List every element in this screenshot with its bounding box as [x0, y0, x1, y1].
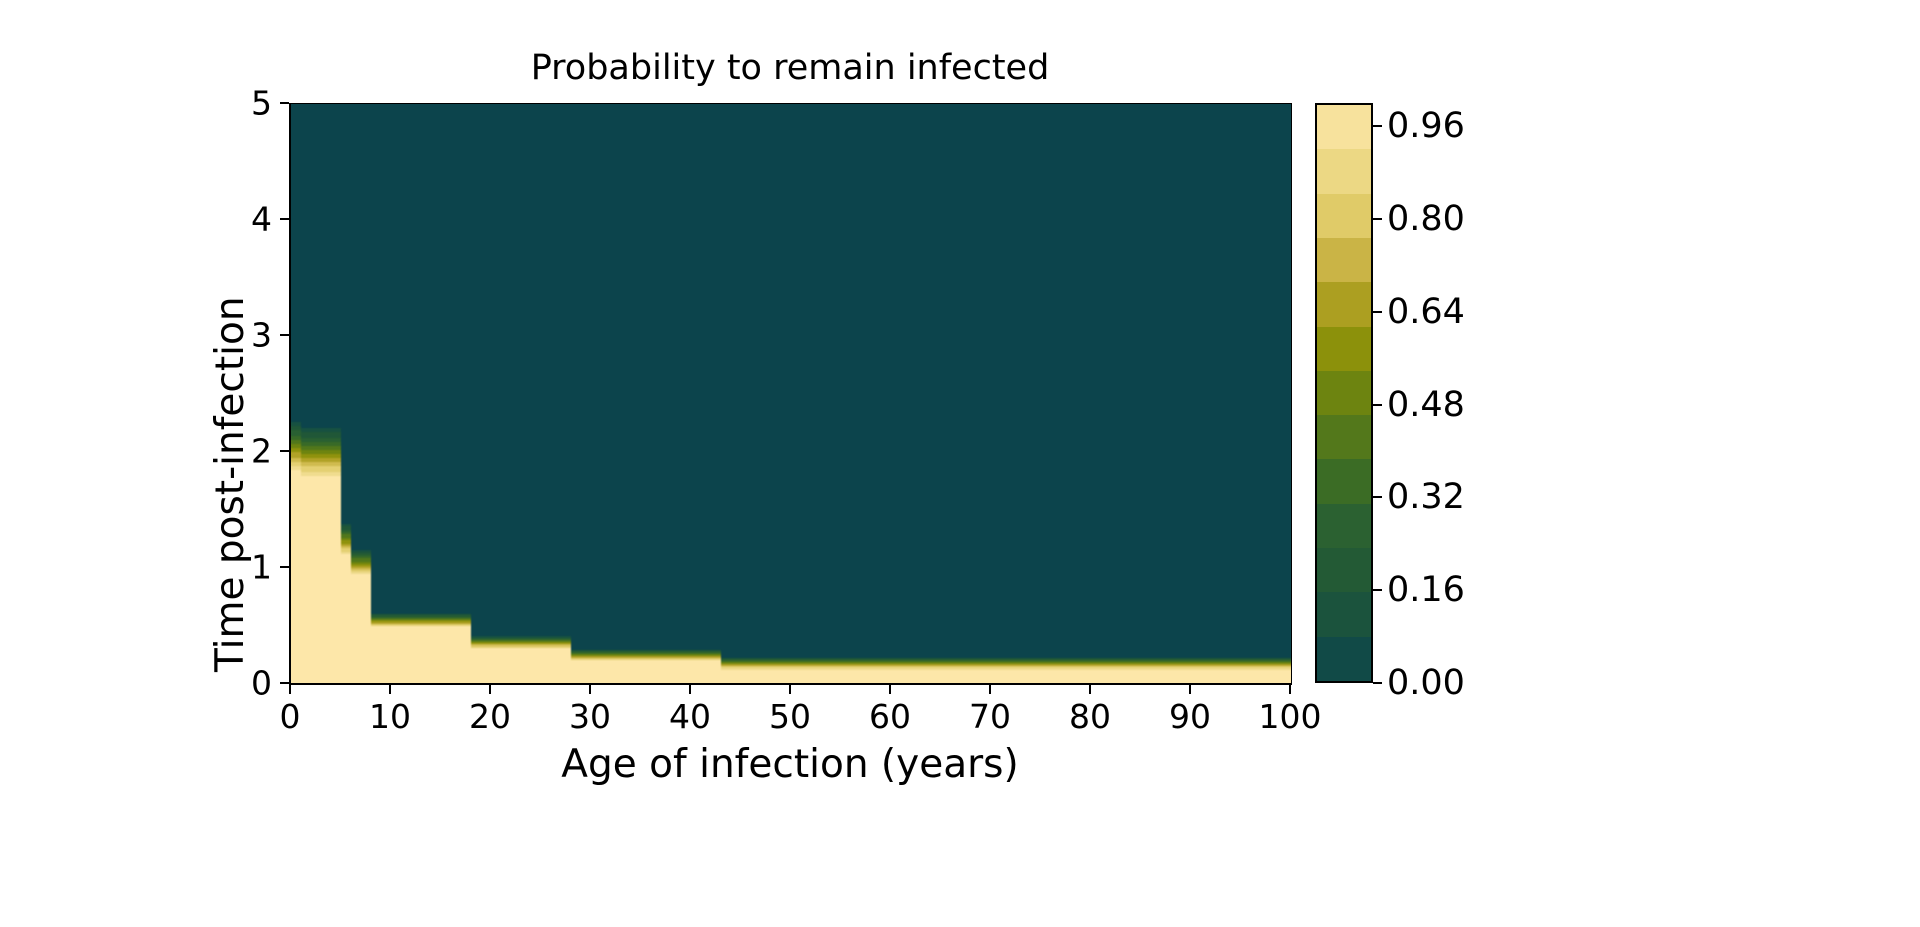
- x-tick-mark: [989, 685, 991, 694]
- x-tick-label: 40: [669, 697, 711, 736]
- y-tick-mark: [280, 334, 289, 336]
- colorbar-band: [1317, 459, 1371, 503]
- x-tick-mark: [689, 685, 691, 694]
- x-tick-label: 20: [469, 697, 511, 736]
- x-tick-mark: [1189, 685, 1191, 694]
- x-tick-mark: [289, 685, 291, 694]
- colorbar-tick-mark: [1373, 496, 1382, 498]
- y-axis-spine: [289, 103, 291, 685]
- y-axis-label: Time post-infection: [208, 296, 253, 672]
- x-tick-mark: [889, 685, 891, 694]
- colorbar-band: [1317, 238, 1371, 282]
- x-tick-label: 60: [869, 697, 911, 736]
- x-tick-label: 80: [1069, 697, 1111, 736]
- x-tick-mark: [589, 685, 591, 694]
- colorbar-band: [1317, 504, 1371, 548]
- y-tick-label: 2: [251, 432, 272, 471]
- x-tick-label: 70: [969, 697, 1011, 736]
- colorbar-gradient: [1315, 103, 1373, 683]
- colorbar-tick-label: 0.48: [1387, 385, 1465, 425]
- figure-canvas: Probability to remain infected 010203040…: [0, 0, 1920, 927]
- colorbar-band: [1317, 415, 1371, 459]
- x-tick-label: 90: [1169, 697, 1211, 736]
- y-tick-mark: [280, 450, 289, 452]
- y-tick-label: 0: [251, 664, 272, 703]
- x-tick-label: 50: [769, 697, 811, 736]
- y-tick-mark: [280, 566, 289, 568]
- colorbar-tick-mark: [1373, 589, 1382, 591]
- y-tick-label: 4: [251, 200, 272, 239]
- colorbar-tick-label: 0.16: [1387, 570, 1465, 610]
- colorbar-tick-mark: [1373, 311, 1382, 313]
- colorbar-tick-mark: [1373, 218, 1382, 220]
- x-tick-mark: [1289, 685, 1291, 694]
- x-tick-label: 30: [569, 697, 611, 736]
- colorbar-band: [1317, 194, 1371, 238]
- colorbar-tick-label: 0.64: [1387, 292, 1465, 332]
- y-tick-label: 3: [251, 316, 272, 355]
- colorbar-band: [1317, 637, 1371, 681]
- colorbar-band: [1317, 371, 1371, 415]
- heatmap-plot-area: [290, 103, 1292, 685]
- x-tick-label: 0: [280, 697, 301, 736]
- colorbar-band: [1317, 149, 1371, 193]
- x-tick-mark: [389, 685, 391, 694]
- x-axis-label: Age of infection (years): [290, 742, 1290, 787]
- colorbar-tick-mark: [1373, 682, 1382, 684]
- x-tick-mark: [489, 685, 491, 694]
- page-title: Probability to remain infected: [290, 48, 1290, 88]
- colorbar-tick-mark: [1373, 125, 1382, 127]
- colorbar: 0.000.160.320.480.640.800.96: [1315, 103, 1373, 683]
- colorbar-band: [1317, 282, 1371, 326]
- x-tick-mark: [789, 685, 791, 694]
- colorbar-tick-mark: [1373, 404, 1382, 406]
- x-tick-label: 100: [1259, 697, 1322, 736]
- colorbar-band: [1317, 327, 1371, 371]
- y-tick-mark: [280, 682, 289, 684]
- y-tick-label: 5: [251, 84, 272, 123]
- x-tick-label: 10: [369, 697, 411, 736]
- y-tick-mark: [280, 102, 289, 104]
- colorbar-band: [1317, 548, 1371, 592]
- x-tick-mark: [1089, 685, 1091, 694]
- colorbar-tick-label: 0.80: [1387, 199, 1465, 239]
- colorbar-tick-label: 0.32: [1387, 477, 1465, 517]
- y-tick-mark: [280, 218, 289, 220]
- colorbar-tick-label: 0.00: [1387, 663, 1465, 703]
- colorbar-band: [1317, 592, 1371, 636]
- colorbar-tick-label: 0.96: [1387, 106, 1465, 146]
- heatmap-image: [291, 104, 1291, 684]
- colorbar-band: [1317, 105, 1371, 149]
- y-tick-label: 1: [251, 548, 272, 587]
